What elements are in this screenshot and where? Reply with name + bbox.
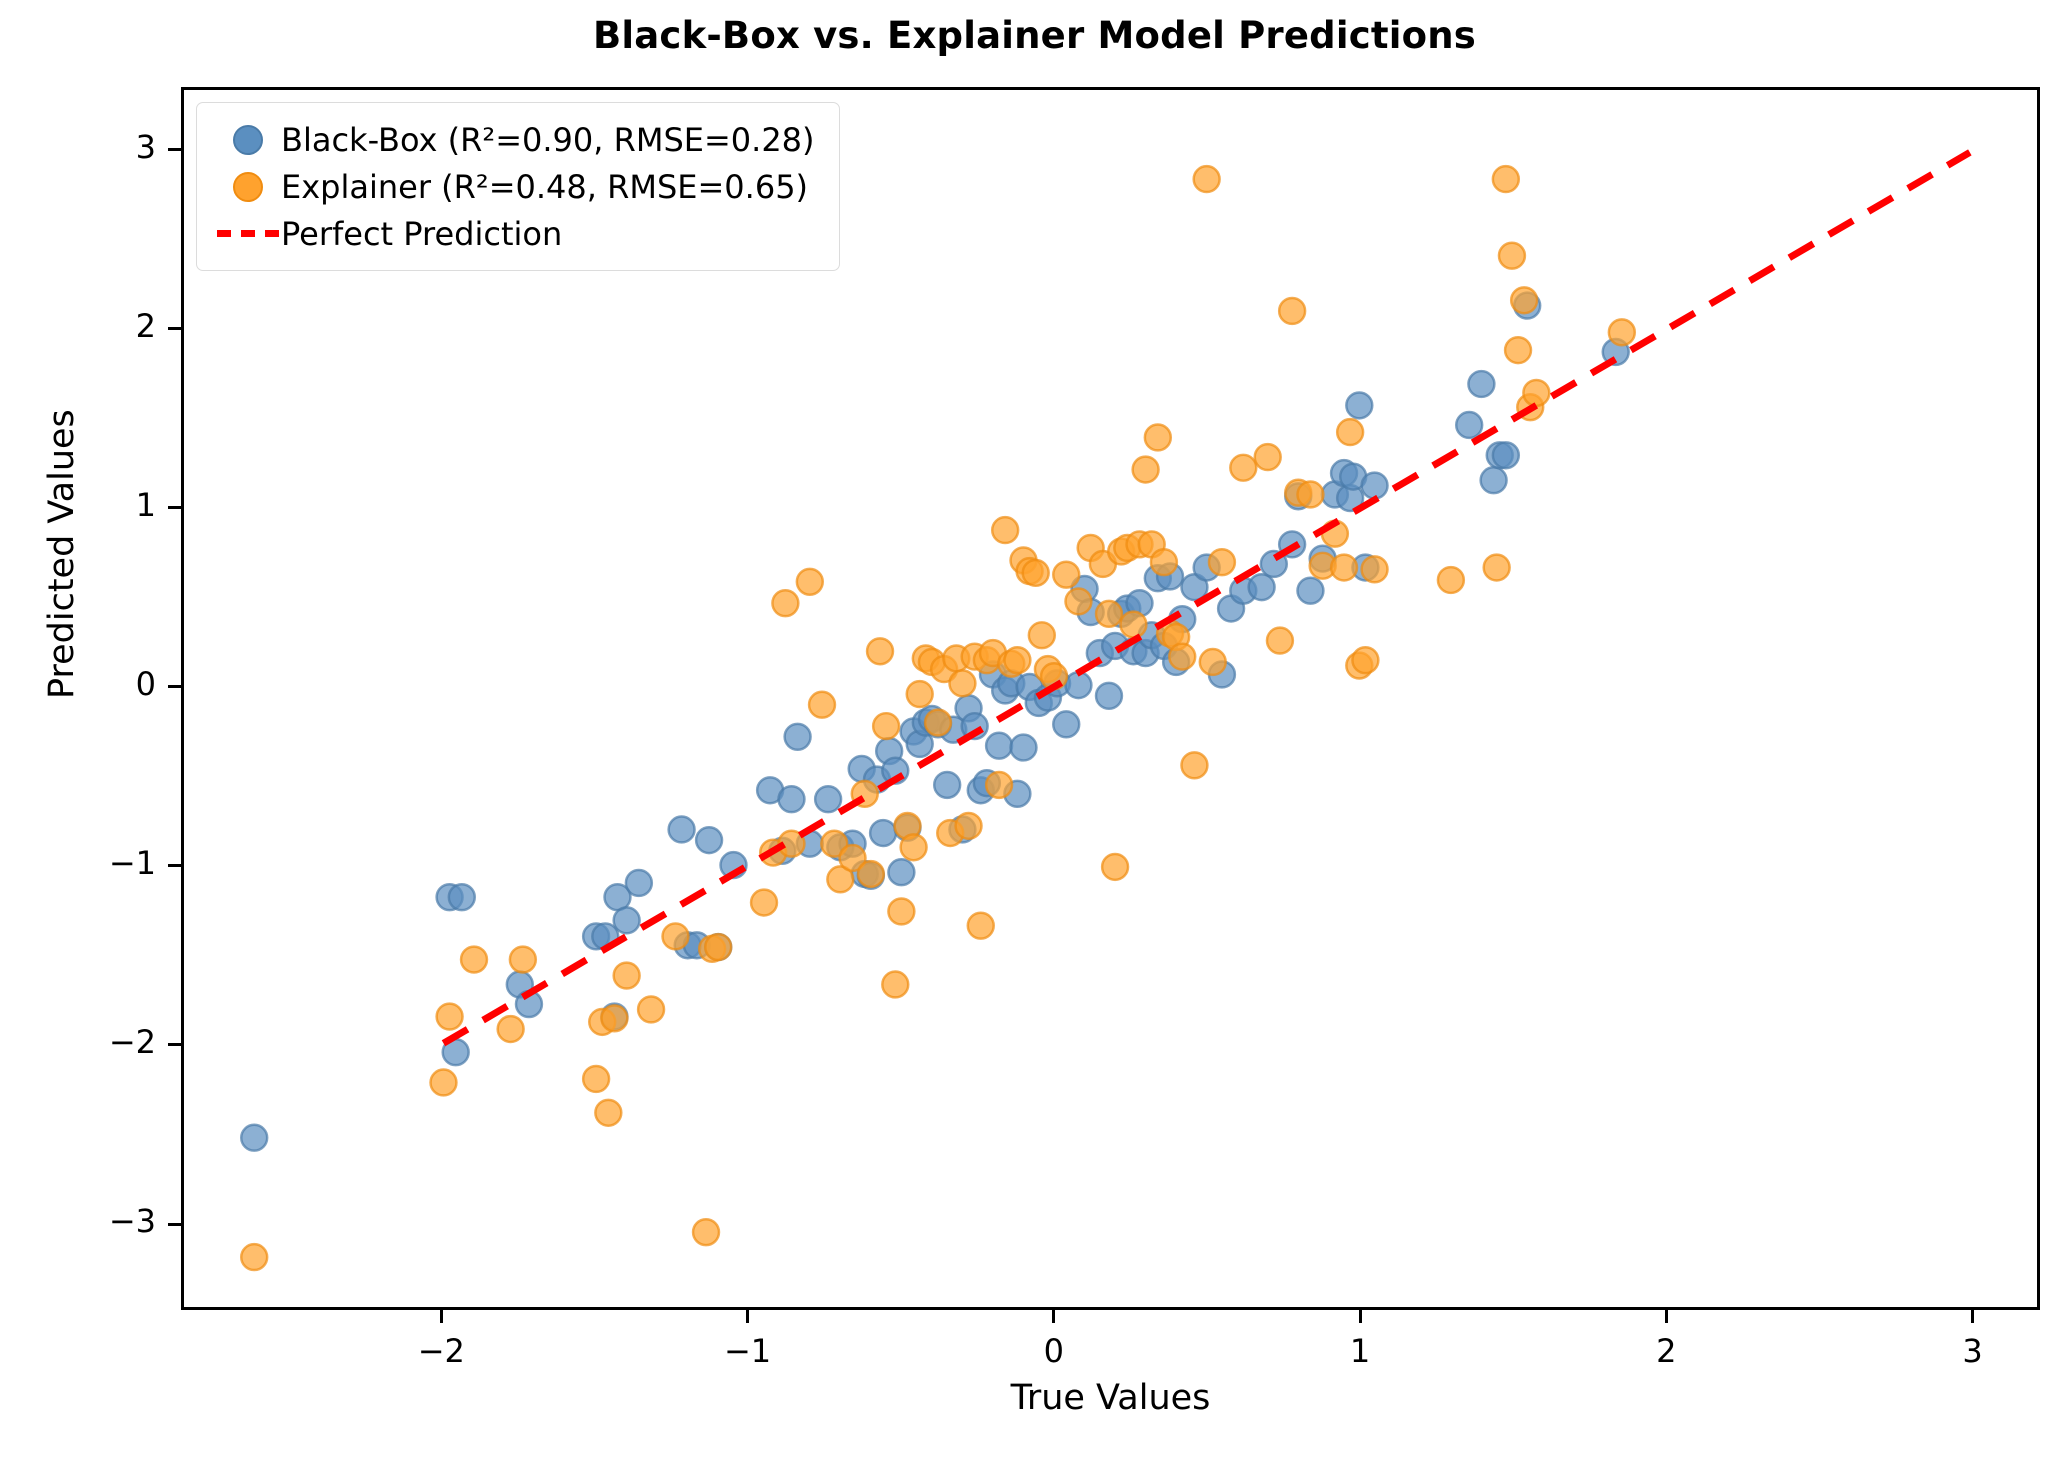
- x-tick-mark: [1971, 1310, 1974, 1323]
- scatter-point: [1297, 482, 1323, 508]
- series-explainer: [241, 166, 1635, 1270]
- scatter-point: [1011, 735, 1037, 761]
- scatter-point: [956, 813, 982, 839]
- y-tick-mark: [168, 864, 181, 867]
- scatter-point: [1505, 337, 1531, 363]
- y-tick-label: −2: [36, 1023, 156, 1061]
- scatter-point: [1249, 574, 1275, 600]
- scatter-point: [663, 923, 689, 949]
- scatter-point: [870, 820, 896, 846]
- scatter-point: [1362, 556, 1388, 582]
- scatter-point: [1023, 560, 1049, 586]
- scatter-point: [510, 947, 536, 973]
- scatter-point: [888, 859, 914, 885]
- plot-clip: [184, 90, 2037, 1307]
- scatter-point: [431, 1070, 457, 1096]
- scatter-point: [1181, 752, 1207, 778]
- scatter-point: [882, 972, 908, 998]
- scatter-point: [1362, 473, 1388, 499]
- scatter-figure: Black-Box vs. Explainer Model Prediction…: [0, 0, 2069, 1470]
- circle-marker-icon: [233, 172, 263, 202]
- scatter-point: [1267, 628, 1293, 654]
- scatter-point: [949, 670, 975, 696]
- scatter-point: [772, 590, 798, 616]
- y-tick-mark: [168, 1043, 181, 1046]
- y-tick-mark: [168, 327, 181, 330]
- scatter-point: [583, 1066, 609, 1092]
- legend-item: Perfect Prediction: [215, 210, 815, 257]
- x-tick-label: −2: [381, 1332, 501, 1370]
- scatter-point: [1053, 711, 1079, 737]
- scatter-point: [693, 1219, 719, 1245]
- scatter-point: [809, 692, 835, 718]
- scatter-point: [1004, 647, 1030, 673]
- x-tick-label: 3: [1913, 1332, 2033, 1370]
- scatter-point: [901, 834, 927, 860]
- scatter-point: [1438, 567, 1464, 593]
- x-tick-mark: [1359, 1310, 1362, 1323]
- scatter-point: [1151, 549, 1177, 575]
- scatter-point: [1230, 455, 1256, 481]
- scatter-point: [986, 772, 1012, 798]
- scatter-point: [815, 786, 841, 812]
- y-tick-mark: [168, 506, 181, 509]
- scatter-point: [1493, 442, 1519, 468]
- legend-label-blackbox: Black-Box (R²=0.90, RMSE=0.28): [281, 121, 815, 159]
- scatter-point: [992, 517, 1018, 543]
- scatter-point: [705, 934, 731, 960]
- scatter-point: [873, 713, 899, 739]
- scatter-point: [925, 710, 951, 736]
- x-tick-mark: [1665, 1310, 1668, 1323]
- scatter-point: [1255, 444, 1281, 470]
- chart-title: Black-Box vs. Explainer Model Prediction…: [0, 14, 2069, 57]
- scatter-point: [1102, 854, 1128, 880]
- y-tick-mark: [168, 685, 181, 688]
- scatter-point: [779, 786, 805, 812]
- x-tick-mark: [1052, 1310, 1055, 1323]
- scatter-point: [498, 1016, 524, 1042]
- scatter-point: [934, 772, 960, 798]
- scatter-point: [1096, 683, 1122, 709]
- scatter-point: [1352, 647, 1378, 673]
- y-tick-label: 2: [36, 307, 156, 345]
- perfect-prediction-line: [443, 152, 1969, 1043]
- scatter-point: [1200, 649, 1226, 675]
- legend-label-explainer: Explainer (R²=0.48, RMSE=0.65): [281, 168, 808, 206]
- scatter-point: [907, 681, 933, 707]
- scatter-point: [1481, 467, 1507, 493]
- scatter-point: [461, 947, 487, 973]
- scatter-point: [751, 890, 777, 916]
- scatter-point: [601, 1005, 627, 1031]
- plot-canvas: [184, 90, 2037, 1307]
- scatter-point: [241, 1125, 267, 1151]
- x-tick-label: −1: [688, 1332, 808, 1370]
- scatter-point: [437, 1004, 463, 1030]
- legend-marker-blackbox: [215, 125, 281, 155]
- legend-marker-perfect-prediction: [215, 230, 281, 237]
- scatter-point: [1346, 392, 1372, 418]
- scatter-point: [1133, 457, 1159, 483]
- x-tick-label: 0: [994, 1332, 1114, 1370]
- legend-label-perfect-prediction: Perfect Prediction: [281, 215, 562, 253]
- scatter-point: [1145, 425, 1171, 451]
- y-tick-label: −3: [36, 1202, 156, 1240]
- legend[interactable]: Black-Box (R²=0.90, RMSE=0.28) Explainer…: [196, 102, 840, 271]
- scatter-point: [696, 827, 722, 853]
- scatter-point: [638, 996, 664, 1022]
- scatter-point: [1499, 243, 1525, 269]
- scatter-point: [626, 870, 652, 896]
- legend-item: Black-Box (R²=0.90, RMSE=0.28): [215, 116, 815, 163]
- scatter-point: [858, 861, 884, 887]
- scatter-point: [614, 963, 640, 989]
- scatter-point: [1120, 612, 1146, 638]
- scatter-point: [1493, 166, 1519, 192]
- scatter-point: [968, 913, 994, 939]
- scatter-point: [449, 884, 475, 910]
- scatter-point: [1331, 555, 1357, 581]
- scatter-point: [1609, 319, 1635, 345]
- x-axis-label: True Values: [181, 1378, 2040, 1418]
- x-tick-mark: [746, 1310, 749, 1323]
- x-tick-label: 1: [1300, 1332, 1420, 1370]
- scatter-point: [1337, 419, 1363, 445]
- scatter-point: [1456, 412, 1482, 438]
- x-tick-mark: [440, 1310, 443, 1323]
- circle-marker-icon: [233, 125, 263, 155]
- scatter-point: [614, 907, 640, 933]
- dashed-line-icon: [217, 230, 279, 237]
- y-tick-mark: [168, 1223, 181, 1226]
- scatter-point: [1194, 166, 1220, 192]
- scatter-point: [595, 1100, 621, 1126]
- scatter-point: [1484, 555, 1510, 581]
- scatter-point: [986, 733, 1012, 759]
- y-tick-label: −1: [36, 844, 156, 882]
- scatter-point: [1209, 549, 1235, 575]
- y-tick-label: 3: [36, 128, 156, 166]
- scatter-point: [1523, 380, 1549, 406]
- x-tick-label: 2: [1606, 1332, 1726, 1370]
- scatter-point: [241, 1244, 267, 1270]
- scatter-point: [797, 569, 823, 595]
- legend-item: Explainer (R²=0.48, RMSE=0.65): [215, 163, 815, 210]
- scatter-point: [888, 898, 914, 924]
- scatter-point: [669, 817, 695, 843]
- scatter-point: [785, 724, 811, 750]
- legend-marker-explainer: [215, 172, 281, 202]
- scatter-point: [1279, 298, 1305, 324]
- scatter-point: [1053, 562, 1079, 588]
- y-axis-label: Predicted Values: [42, 409, 82, 699]
- scatter-point: [867, 638, 893, 664]
- scatter-point: [1468, 371, 1494, 397]
- scatter-point: [1065, 588, 1091, 614]
- scatter-point: [1169, 644, 1195, 670]
- scatter-point: [1297, 578, 1323, 604]
- scatter-point: [1096, 601, 1122, 627]
- scatter-point: [1511, 287, 1537, 313]
- scatter-point: [1029, 622, 1055, 648]
- y-tick-mark: [168, 148, 181, 151]
